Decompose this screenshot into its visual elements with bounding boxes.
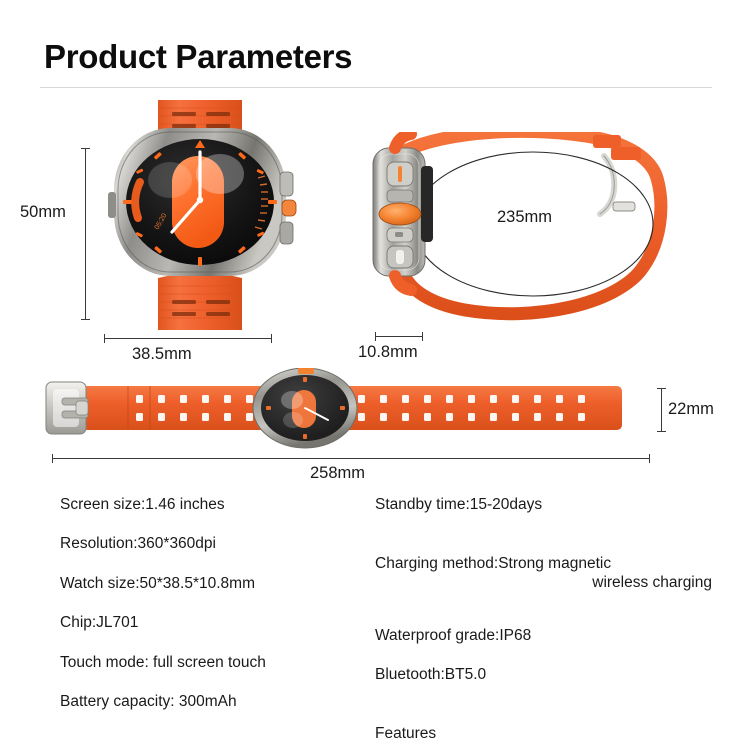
spec-features: Features Precise compass, IP68 waterproo… — [375, 705, 720, 750]
thickness-dimension-line — [375, 336, 423, 337]
spec-list-left: Screen size:1.46 inches Resolution:360*3… — [60, 495, 390, 731]
front-width-dimension-line — [104, 338, 272, 339]
spec-watch-size: Watch size:50*38.5*10.8mm — [60, 574, 390, 593]
loop-circumference-label: 235mm — [497, 208, 552, 227]
front-height-dimension-line — [85, 148, 86, 320]
thickness-label: 10.8mm — [358, 343, 418, 362]
product-parameters-page: Product Parameters — [0, 0, 750, 750]
total-length-dimension-line — [52, 458, 650, 459]
spec-charging-method: Charging method:Strong magnetic wireless… — [375, 534, 720, 612]
title-divider — [40, 87, 712, 88]
spec-list-right: Standby time:15-20days Charging method:S… — [375, 495, 720, 750]
band-width-label: 22mm — [668, 400, 714, 419]
spec-chip: Chip:JL701 — [60, 613, 390, 632]
spec-resolution: Resolution:360*360dpi — [60, 534, 390, 553]
band-width-dimension-line — [661, 388, 662, 432]
smartwatch-front-view: 05:20 — [100, 100, 300, 330]
spec-features-heading: Features — [375, 724, 720, 743]
spec-waterproof-grade: Waterproof grade:IP68 — [375, 626, 720, 645]
front-height-label: 50mm — [20, 203, 66, 222]
smartwatch-side-view — [365, 132, 710, 332]
spec-screen-size: Screen size:1.46 inches — [60, 495, 390, 514]
page-title: Product Parameters — [44, 38, 352, 76]
front-width-label: 38.5mm — [132, 345, 192, 364]
total-length-label: 258mm — [310, 464, 365, 483]
spec-touch-mode: Touch mode: full screen touch — [60, 653, 390, 672]
spec-charging-method-line2: wireless charging — [375, 573, 720, 592]
spec-battery-capacity: Battery capacity: 300mAh — [60, 692, 390, 711]
smartwatch-flat-strap-view — [40, 368, 660, 450]
spec-charging-method-line1: Charging method:Strong magnetic — [375, 555, 611, 572]
spec-standby-time: Standby time:15-20days — [375, 495, 720, 514]
spec-bluetooth: Bluetooth:BT5.0 — [375, 665, 720, 684]
